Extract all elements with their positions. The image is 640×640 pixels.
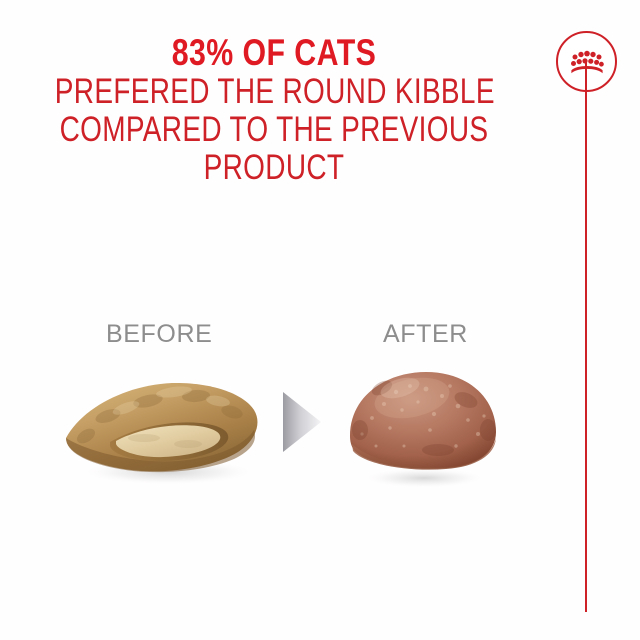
headline-primary: 83% OF CATS	[49, 32, 498, 73]
headline-line-2: COMPARED TO THE PREVIOUS	[55, 111, 493, 149]
before-label: BEFORE	[106, 320, 212, 349]
before-kibble-image	[48, 368, 278, 488]
headline-block: 83% OF CATS PREFERED THE ROUND KIBBLE CO…	[0, 32, 548, 187]
headline-line-1: PREFERED THE ROUND KIBBLE	[55, 73, 493, 111]
headline-line-3: PRODUCT	[55, 149, 493, 187]
after-label: AFTER	[383, 320, 468, 349]
logo-vertical-rule	[585, 61, 587, 612]
after-kibble-image	[338, 358, 508, 490]
right-arrow-icon	[283, 392, 321, 452]
